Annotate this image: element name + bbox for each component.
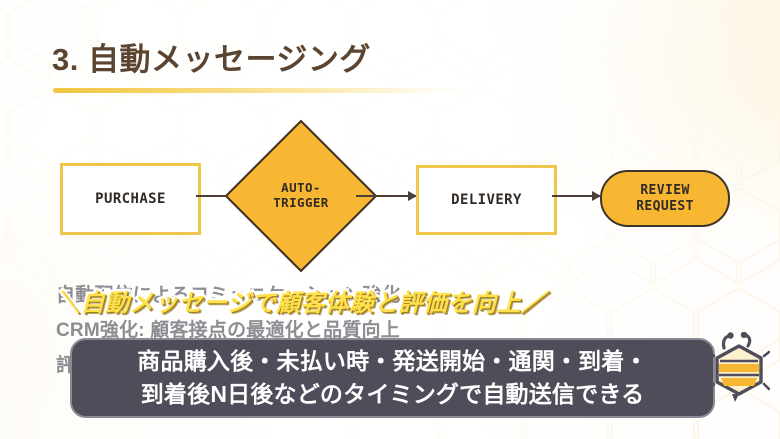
flow-node-auto-trigger[interactable]: AUTO- TRIGGER: [247, 142, 355, 250]
flow-node-auto-trigger-line1: AUTO-: [281, 180, 321, 195]
flow-arrow-trigger-to-delivery: [356, 195, 416, 197]
page-title: 3. 自動メッセージング: [52, 34, 371, 79]
flow-node-auto-trigger-line2: TRIGGER: [273, 195, 328, 210]
caption-bar: 商品購入後・未払い時・発送開始・通関・到着・ 到着後N日後などのタイミングで自動…: [70, 338, 715, 418]
bee-honeycomb-icon: [708, 332, 770, 404]
highlight-headline: ＼自動メッセージで顧客体験と評価を向上／: [56, 283, 546, 318]
flow-node-delivery[interactable]: DELIVERY: [416, 165, 557, 235]
flow-node-review-request-line1: REVIEW: [640, 183, 689, 198]
slide-root: 3. 自動メッセージング PURCHASE AUTO- TRIGGER DELI…: [0, 0, 780, 439]
flow-arrow-delivery-to-review: [552, 195, 600, 197]
flow-node-review-request[interactable]: REVIEW REQUEST: [600, 170, 730, 227]
caption-line-2: 到着後N日後などのタイミングで自動送信できる: [141, 378, 645, 411]
flow-node-purchase[interactable]: PURCHASE: [60, 163, 201, 235]
flow-node-delivery-label: DELIVERY: [451, 192, 522, 209]
flow-node-purchase-label: PURCHASE: [95, 191, 166, 208]
flow-node-review-request-label: REVIEW REQUEST: [636, 183, 694, 214]
flow-node-review-request-line2: REQUEST: [636, 199, 694, 214]
title-underline-rule: [53, 88, 481, 93]
caption-line-1: 商品購入後・未払い時・発送開始・通関・到着・: [137, 345, 647, 378]
flow-node-auto-trigger-label: AUTO- TRIGGER: [273, 181, 328, 211]
